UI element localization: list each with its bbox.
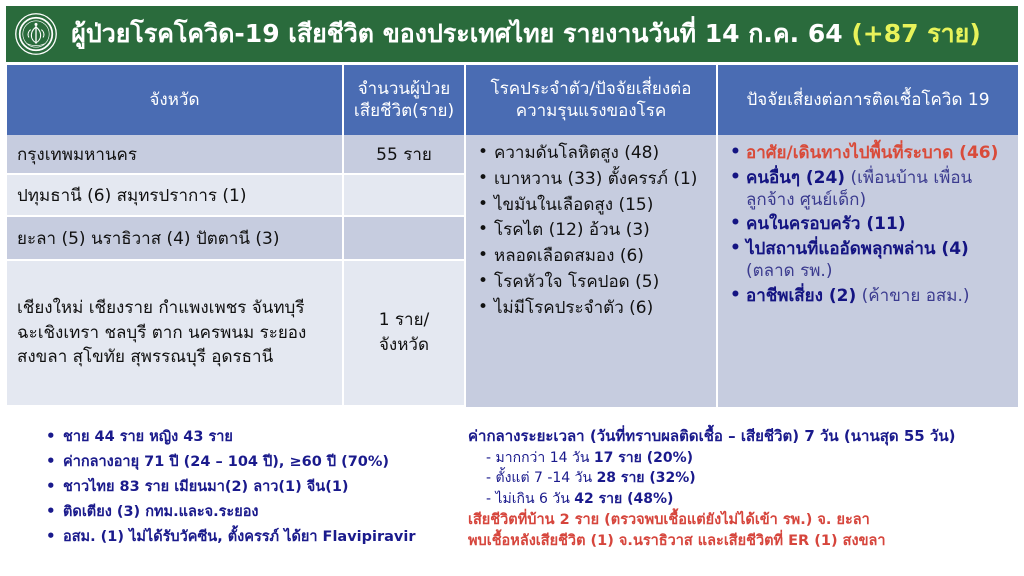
list-item: ติดเตียง (3) กทม.และจ.ระยอง — [46, 500, 466, 525]
list-item: เบาหวาน (33) ตั้งครรภ์ (1) — [476, 169, 710, 191]
ministry-of-public-health-emblem-icon — [14, 12, 58, 56]
home-death-note-line-2: พบเชื้อหลังเสียชีวิต (1) จ.นราธิวาส และเ… — [468, 531, 1018, 553]
duration-label: - ตั้งแต่ 7 -14 วัน — [486, 470, 597, 486]
list-item: คนในครอบครัว (11) — [728, 214, 1012, 236]
risk-main-text: ไปสถานที่แออัดพลุกพล่าน (4) — [746, 239, 969, 259]
list-item: หลอดเลือดสมอง (6) — [476, 246, 710, 268]
risk-main-text: คนอื่นๆ (24) — [746, 168, 845, 188]
list-item: ความดันโลหิตสูง (48) — [476, 143, 710, 165]
median-duration-heading: ค่ากลางระยะเวลา (วันที่ทราบผลติดเชื้อ – … — [468, 425, 1018, 448]
column-header-provinces: จังหวัด — [7, 65, 344, 135]
column-death-counts: จำนวนผู้ป่วย เสียชีวิต(ราย) 55 ราย 1 ราย… — [344, 65, 466, 409]
list-item: อาชีพเสี่ยง (2) (ค้าขาย อสม.) — [728, 286, 1012, 308]
column-header-line-2: เสียชีวิต(ราย) — [354, 100, 454, 122]
table-row-province-3: เชียงใหม่ เชียงราย กำแพงเพชร จันทบุรี ฉะ… — [7, 261, 344, 407]
risk-cont-text: (ตลาด รพ.) — [746, 261, 1012, 283]
duration-label: - มากกว่า 14 วัน — [486, 450, 594, 466]
list-item: ไขมันในเลือดสูง (15) — [476, 195, 710, 217]
table-cell-count-0: 55 ราย — [344, 135, 466, 175]
table-row-province-1: ปทุมธานี (6) สมุทรปราการ (1) — [7, 175, 344, 217]
duration-breakdown-item-0: - มากกว่า 14 วัน 17 ราย (20%) — [468, 448, 1018, 469]
table-cell-count-2 — [344, 217, 466, 261]
underlying-diseases-cell: ความดันโลหิตสูง (48) เบาหวาน (33) ตั้งคร… — [466, 135, 718, 409]
list-item: โรคไต (12) อ้วน (3) — [476, 220, 710, 242]
duration-value: 28 ราย (32%) — [597, 470, 696, 486]
province-text: ยะลา (5) นราธิวาส (4) ปัตตานี (3) — [17, 225, 280, 252]
list-item: ชาวไทย 83 ราย เมียนมา(2) ลาว(1) จีน(1) — [46, 475, 466, 500]
column-header-line-1: โรคประจำตัว/ปัจจัยเสี่ยงต่อ — [491, 78, 692, 100]
column-provinces: จังหวัด กรุงเทพมหานคร ปทุมธานี (6) สมุทร… — [7, 65, 344, 409]
risk-sub-text: (ค้าขาย อสม.) — [856, 286, 969, 306]
count-value-line-1: 1 ราย/ — [379, 308, 430, 333]
duration-breakdown-item-2: - ไม่เกิน 6 วัน 42 ราย (48%) — [468, 489, 1018, 510]
footer-right-column: ค่ากลางระยะเวลา (วันที่ทราบผลติดเชื้อ – … — [466, 425, 1018, 553]
list-item: ค่ากลางอายุ 71 ปี (24 – 104 ปี), ≥60 ปี … — [46, 450, 466, 475]
list-item: ชาย 44 ราย หญิง 43 ราย — [46, 425, 466, 450]
footer-summary: ชาย 44 ราย หญิง 43 ราย ค่ากลางอายุ 71 ปี… — [6, 425, 1018, 553]
province-text: ปทุมธานี (6) สมุทรปราการ (1) — [17, 182, 246, 209]
column-infection-risk-factors: ปัจจัยเสี่ยงต่อการติดเชื้อโควิด 19 อาศัย… — [718, 65, 1019, 409]
home-death-note-line-1: เสียชีวิตที่บ้าน 2 ราย (ตรวจพบเชื้อแต่ยั… — [468, 510, 1018, 532]
list-item: ไม่มีโรคประจำตัว (6) — [476, 298, 710, 320]
column-header-underlying-diseases: โรคประจำตัว/ปัจจัยเสี่ยงต่อ ความรุนแรงขอ… — [466, 65, 718, 135]
column-header-infection-risk: ปัจจัยเสี่ยงต่อการติดเชื้อโควิด 19 — [718, 65, 1019, 135]
risk-cont-text: ลูกจ้าง ศูนย์เด็ก) — [746, 190, 1012, 212]
infection-risk-list: อาศัย/เดินทางไปพื้นที่ระบาด (46) คนอื่นๆ… — [728, 143, 1012, 310]
underlying-diseases-list: ความดันโลหิตสูง (48) เบาหวาน (33) ตั้งคร… — [476, 143, 710, 323]
table-cell-count-1 — [344, 175, 466, 217]
demographics-list: ชาย 44 ราย หญิง 43 ราย ค่ากลางอายุ 71 ปี… — [46, 425, 466, 550]
list-item: ไปสถานที่แออัดพลุกพล่าน (4) (ตลาด รพ.) — [728, 239, 1012, 283]
column-header-line-2: ความรุนแรงของโรค — [491, 100, 692, 122]
count-value: 55 ราย — [376, 141, 432, 168]
risk-main-text: อาชีพเสี่ยง (2) — [746, 286, 856, 306]
page-title: ผู้ป่วยโรคโควิด-19 เสียชีวิต ของประเทศไท… — [64, 20, 1018, 48]
province-text-line-3: สงขลา สุโขทัย สุพรรณบุรี อุดรธานี — [17, 345, 273, 370]
table-cell-count-3: 1 ราย/ จังหวัด — [344, 261, 466, 407]
column-underlying-diseases: โรคประจำตัว/ปัจจัยเสี่ยงต่อ ความรุนแรงขอ… — [466, 65, 718, 409]
infection-risk-cell: อาศัย/เดินทางไปพื้นที่ระบาด (46) คนอื่นๆ… — [718, 135, 1019, 409]
title-new-deaths-badge: (+87 ราย) — [851, 19, 980, 48]
title-bar: ผู้ป่วยโรคโควิด-19 เสียชีวิต ของประเทศไท… — [6, 6, 1018, 62]
column-header-death-count: จำนวนผู้ป่วย เสียชีวิต(ราย) — [344, 65, 466, 135]
risk-main-text: อาศัย/เดินทางไปพื้นที่ระบาด (46) — [746, 143, 998, 163]
duration-breakdown-item-1: - ตั้งแต่ 7 -14 วัน 28 ราย (32%) — [468, 468, 1018, 489]
risk-main-text: คนในครอบครัว (11) — [746, 214, 906, 234]
list-item: โรคหัวใจ โรคปอด (5) — [476, 272, 710, 294]
province-text-line-1: เชียงใหม่ เชียงราย กำแพงเพชร จันทบุรี — [17, 296, 304, 321]
province-text-line-2: ฉะเชิงเทรา ชลบุรี ตาก นครพนม ระยอง — [17, 321, 306, 346]
infographic-page: ผู้ป่วยโรคโควิด-19 เสียชีวิต ของประเทศไท… — [0, 0, 1024, 576]
deaths-summary-table: จังหวัด กรุงเทพมหานคร ปทุมธานี (6) สมุทร… — [6, 65, 1019, 409]
duration-value: 42 ราย (48%) — [574, 491, 673, 507]
table-row-province-0: กรุงเทพมหานคร — [7, 135, 344, 175]
province-text: กรุงเทพมหานคร — [17, 141, 137, 168]
list-item: อสม. (1) ไม่ได้รับวัคซีน, ตั้งครรภ์ ได้ย… — [46, 525, 466, 550]
table-row-province-2: ยะลา (5) นราธิวาส (4) ปัตตานี (3) — [7, 217, 344, 261]
duration-label: - ไม่เกิน 6 วัน — [486, 491, 574, 507]
title-main-text: ผู้ป่วยโรคโควิด-19 เสียชีวิต ของประเทศไท… — [71, 19, 851, 48]
footer-left-column: ชาย 44 ราย หญิง 43 ราย ค่ากลางอายุ 71 ปี… — [6, 425, 466, 553]
risk-sub-text: (เพื่อนบ้าน เพื่อน — [845, 168, 972, 188]
list-item: อาศัย/เดินทางไปพื้นที่ระบาด (46) — [728, 143, 1012, 165]
duration-value: 17 ราย (20%) — [594, 450, 693, 466]
column-header-line-1: จำนวนผู้ป่วย — [354, 78, 454, 100]
list-item: คนอื่นๆ (24) (เพื่อนบ้าน เพื่อน ลูกจ้าง … — [728, 168, 1012, 212]
count-value-line-2: จังหวัด — [379, 333, 429, 358]
